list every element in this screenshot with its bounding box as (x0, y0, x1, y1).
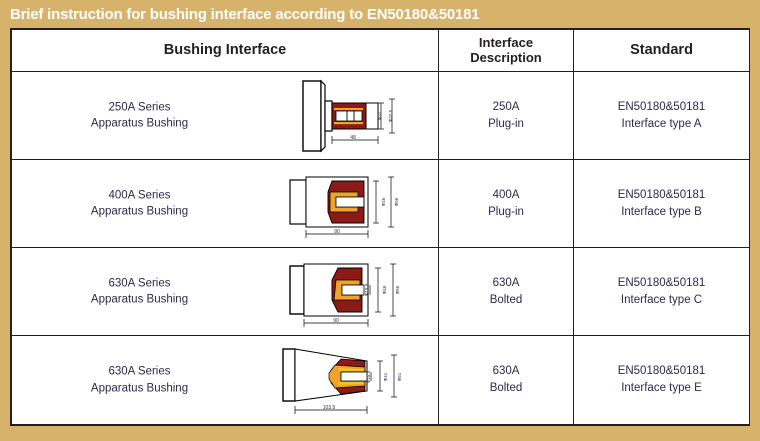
standard-cell: EN50180&50181 Interface type E (574, 336, 750, 425)
dim-bore-diameter: Φ15.9 (364, 283, 369, 296)
bushing-interface-cell: 400A Series Apparatus Bushing (12, 160, 439, 248)
desc-line2: Plug-in (439, 204, 573, 221)
desc-line2: Plug-in (439, 116, 573, 133)
standard-line2: Interface type B (574, 204, 749, 221)
standard-line2: Interface type E (574, 380, 749, 397)
bushing-name-line1: 250A Series (108, 101, 170, 113)
bushing-name-line1: 400A Series (108, 189, 170, 201)
bushing-name-630a-e: 630A Series Apparatus Bushing (12, 363, 267, 396)
bushing-name-line2: Apparatus Bushing (12, 380, 267, 397)
bushing-name-line1: 630A Series (108, 277, 170, 289)
bushing-interface-cell: 630A Series Apparatus Bushing (12, 336, 439, 425)
dim-length: 103.5 (322, 405, 335, 411)
desc-line1: 630A (493, 277, 520, 289)
dim-outer-diameter: Φ56 (395, 285, 400, 294)
standard-line2: Interface type C (574, 292, 749, 309)
standard-line1: EN50180&50181 (618, 277, 706, 289)
bushing-interface-cell: 250A Series Apparatus Bushing (12, 72, 439, 160)
column-header-interface-description: Interface Description (439, 30, 574, 72)
dim-inner-diameter: Φ48 (382, 285, 387, 294)
bushing-name-line2: Apparatus Bushing (12, 292, 267, 309)
dim-length: 48 (350, 135, 356, 141)
bushing-name-400a: 400A Series Apparatus Bushing (12, 187, 267, 220)
interface-description-line2: Description (470, 50, 542, 65)
desc-line2: Bolted (439, 292, 573, 309)
table-header: Bushing Interface Interface Description … (12, 30, 750, 72)
standard-cell: EN50180&50181 Interface type B (574, 160, 750, 248)
column-header-standard: Standard (574, 30, 750, 72)
standard-line1: EN50180&50181 (618, 365, 706, 377)
bushing-name-630a-c: 630A Series Apparatus Bushing (12, 275, 267, 308)
desc-line1: 400A (493, 189, 520, 201)
bushing-name-line2: Apparatus Bushing (12, 116, 267, 133)
dim-inner-diameter: Φ31 (377, 111, 382, 120)
dim-outer-diameter: Φ56 (394, 197, 399, 206)
spec-table-container: Bushing Interface Interface Description … (10, 28, 750, 426)
interface-description-cell: 250A Plug-in (439, 72, 574, 160)
dim-length: 90 (333, 318, 339, 324)
column-header-bushing-interface: Bushing Interface (12, 30, 439, 72)
title-banner: Brief instruction for bushing interface … (0, 0, 760, 28)
bushing-spec-table: Bushing Interface Interface Description … (11, 29, 750, 425)
desc-line1: 250A (493, 101, 520, 113)
table-row: 630A Series Apparatus Bushing (12, 336, 750, 425)
table-header-row: Bushing Interface Interface Description … (12, 30, 750, 72)
interface-description-line1: Interface (479, 35, 533, 50)
table-row: 630A Series Apparatus Bushing (12, 248, 750, 336)
table-row: 250A Series Apparatus Bushing (12, 72, 750, 160)
bushing-name-line2: Apparatus Bushing (12, 204, 267, 221)
standard-cell: EN50180&50181 Interface type A (574, 72, 750, 160)
page-title: Brief instruction for bushing interface … (10, 6, 479, 23)
dim-bore-diameter: Φ15.9 (366, 370, 371, 383)
standard-line2: Interface type A (574, 116, 749, 133)
interface-description-cell: 400A Plug-in (439, 160, 574, 248)
table-body: 250A Series Apparatus Bushing (12, 72, 750, 425)
interface-description-cell: 630A Bolted (439, 248, 574, 336)
bushing-name-250a: 250A Series Apparatus Bushing (12, 99, 267, 132)
table-row: 400A Series Apparatus Bushing (12, 160, 750, 248)
desc-line2: Bolted (439, 380, 573, 397)
dim-outer-diameter: Φ61 (397, 372, 402, 381)
dim-outer-diameter: Φ32.5 (388, 109, 393, 122)
dim-inner-diameter: Φ41 (383, 372, 388, 381)
dim-inner-diameter: Φ46 (381, 197, 386, 206)
interface-description-cell: 630A Bolted (439, 336, 574, 425)
standard-cell: EN50180&50181 Interface type C (574, 248, 750, 336)
bushing-interface-cell: 630A Series Apparatus Bushing (12, 248, 439, 336)
standard-line1: EN50180&50181 (618, 189, 706, 201)
dim-length: 90 (334, 229, 340, 235)
desc-line1: 630A (493, 365, 520, 377)
standard-line1: EN50180&50181 (618, 101, 706, 113)
bushing-name-line1: 630A Series (108, 365, 170, 377)
